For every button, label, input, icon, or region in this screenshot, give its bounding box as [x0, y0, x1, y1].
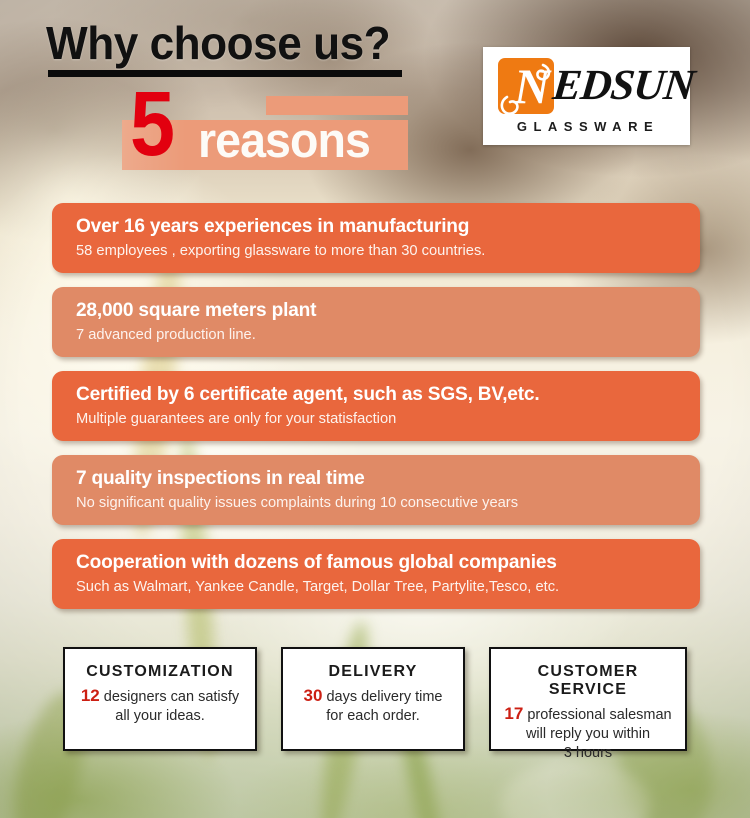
- reason-subtitle: No significant quality issues complaints…: [76, 492, 688, 513]
- page-title: Why choose us?: [46, 16, 390, 70]
- reason-subtitle: Multiple guarantees are only for your st…: [76, 408, 688, 429]
- card-title: CUSTOMER SERVICE: [497, 663, 679, 699]
- highlight-card-customer-service: CUSTOMER SERVICE 17 professional salesma…: [489, 647, 687, 751]
- reason-title: 7 quality inspections in real time: [76, 466, 688, 490]
- card-number: 30: [304, 686, 323, 705]
- reason-title: Over 16 years experiences in manufacturi…: [76, 214, 688, 238]
- reason-count: 5: [130, 78, 175, 170]
- card-line-1: professional salesman: [523, 707, 671, 723]
- highlight-cards: CUSTOMIZATION 12 designers can satisfy a…: [63, 647, 687, 751]
- card-number: 12: [81, 686, 100, 705]
- brand-logo: N EDSUN GLASSWARE: [483, 47, 690, 145]
- reason-subtitle: 7 advanced production line.: [76, 324, 688, 345]
- card-line-1: days delivery time: [322, 689, 442, 705]
- reason-bar: Over 16 years experiences in manufacturi…: [52, 203, 700, 273]
- reason-bar: 7 quality inspections in real time No si…: [52, 455, 700, 525]
- card-body: 30 days delivery time for each order.: [289, 686, 457, 726]
- card-line-2: all your ideas.: [115, 708, 204, 724]
- reason-title: 28,000 square meters plant: [76, 298, 688, 322]
- card-title: CUSTOMIZATION: [71, 663, 249, 681]
- logo-wordmark: EDSUN: [550, 57, 697, 115]
- title-underline: [48, 70, 402, 77]
- card-line-2: for each order.: [326, 708, 420, 724]
- card-title: DELIVERY: [289, 663, 457, 681]
- reason-bar: Cooperation with dozens of famous global…: [52, 539, 700, 609]
- card-body: 12 designers can satisfy all your ideas.: [71, 686, 249, 726]
- reason-subtitle: Such as Walmart, Yankee Candle, Target, …: [76, 576, 688, 597]
- reason-title: Cooperation with dozens of famous global…: [76, 550, 688, 574]
- logo-subtitle: GLASSWARE: [499, 119, 677, 134]
- card-body: 17 professional salesman will reply you …: [497, 704, 679, 763]
- reasons-list: Over 16 years experiences in manufacturi…: [52, 203, 700, 623]
- reason-bar: Certified by 6 certificate agent, such a…: [52, 371, 700, 441]
- reason-bar: 28,000 square meters plant 7 advanced pr…: [52, 287, 700, 357]
- accent-band-upper: [266, 96, 408, 115]
- poster-root: Why choose us? 5 reasons N EDSUN GLASSWA…: [0, 0, 750, 818]
- reason-subtitle: 58 employees , exporting glassware to mo…: [76, 240, 688, 261]
- reason-title: Certified by 6 certificate agent, such a…: [76, 382, 688, 406]
- highlight-card-customization: CUSTOMIZATION 12 designers can satisfy a…: [63, 647, 257, 751]
- card-line-1: designers can satisfy: [100, 689, 239, 705]
- card-line-2: will reply you within: [526, 726, 650, 742]
- card-number: 17: [504, 704, 523, 723]
- reason-count-label: reasons: [198, 114, 370, 168]
- highlight-card-delivery: DELIVERY 30 days delivery time for each …: [281, 647, 465, 751]
- card-line-3: 3 hours: [564, 745, 612, 761]
